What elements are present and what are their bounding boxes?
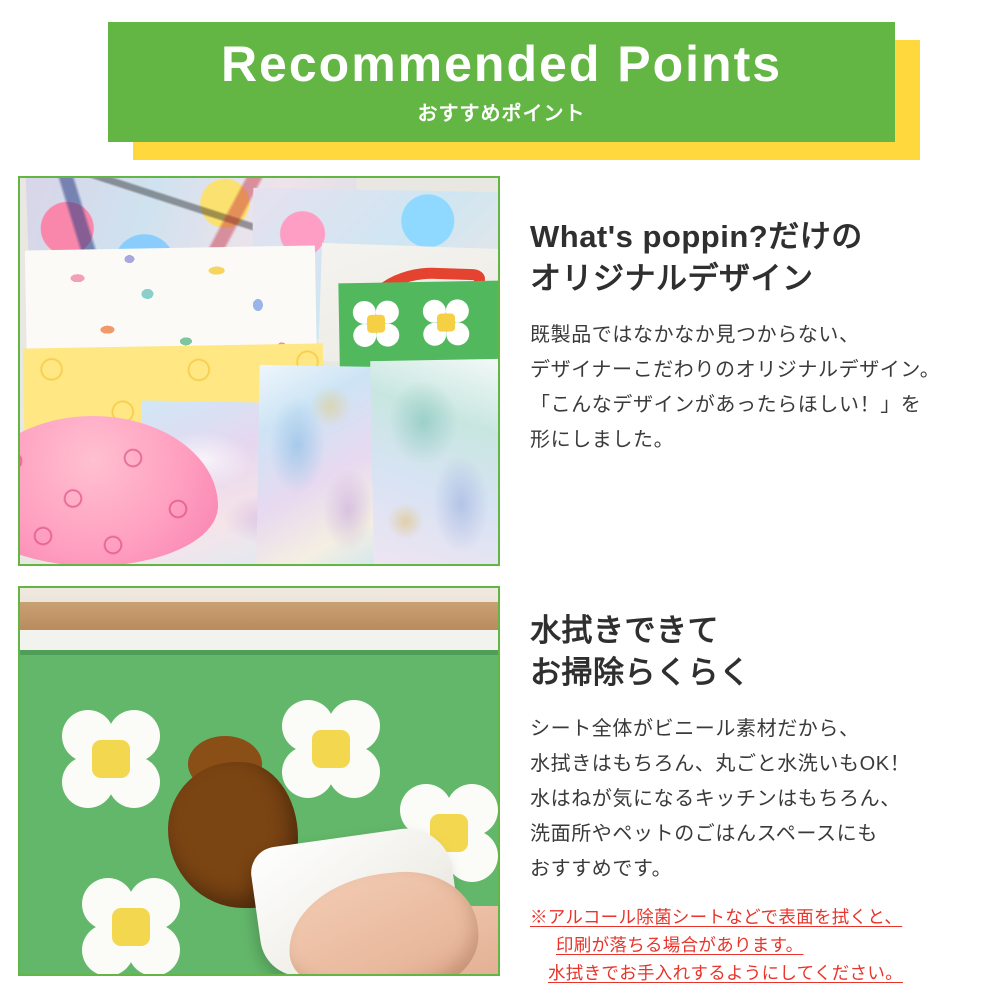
body-line: シート全体がビニール素材だから、 — [530, 712, 980, 747]
sheet-pink-circle — [18, 416, 218, 566]
note-line: 水拭きでお手入れするようにしてください。 — [530, 959, 980, 987]
body-line: 既製品ではなかなか見つからない、 — [530, 318, 980, 353]
body-line: デザイナーこだわりのオリジナルデザイン。 — [530, 353, 980, 388]
photo-mat-cleaning — [18, 586, 500, 976]
text-column-1: What's poppin?だけの オリジナルデザイン 既製品ではなかなか見つか… — [530, 176, 980, 566]
body-line: おすすめです。 — [530, 852, 980, 887]
heading-line: What's poppin?だけの — [530, 216, 980, 258]
section-2-heading: 水拭きできて お掃除らくらく — [530, 610, 980, 694]
heading-line: オリジナルデザイン — [530, 258, 980, 300]
section-2-body: シート全体がビニール素材だから、 水拭きはもちろん、丸ごと水洗いもOK！ 水はね… — [530, 712, 980, 887]
page-subtitle: おすすめポイント — [418, 97, 586, 126]
section-1-body: 既製品ではなかなか見つからない、 デザイナーこだわりのオリジナルデザイン。 「こ… — [530, 318, 980, 458]
section-original-design: What's poppin?だけの オリジナルデザイン 既製品ではなかなか見つか… — [18, 176, 980, 566]
body-line: 形にしました。 — [530, 423, 980, 458]
photo-design-collage — [18, 176, 500, 566]
sheet-marble-teal — [370, 359, 500, 566]
body-line: 「こんなデザインがあったらほしい！」を — [530, 388, 980, 423]
body-line: 水拭きはもちろん、丸ごと水洗いもOK！ — [530, 747, 980, 782]
recommended-points-page: Recommended Points おすすめポイント — [0, 0, 1000, 1000]
page-title: Recommended Points — [221, 38, 782, 91]
mat-white-border — [20, 630, 498, 650]
note-line: 印刷が落ちる場合があります。 — [530, 931, 980, 959]
heading-line: お掃除らくらく — [530, 652, 980, 694]
wood-floor-strip — [20, 602, 498, 630]
header-banner: Recommended Points おすすめポイント — [0, 0, 1000, 165]
mat-edge-line — [20, 650, 498, 655]
section-wipeable: 水拭きできて お掃除らくらく シート全体がビニール素材だから、 水拭きはもちろん… — [18, 586, 980, 988]
sheet-marble-blue — [256, 365, 389, 566]
body-line: 洗面所やペットのごはんスペースにも — [530, 817, 980, 852]
heading-line: 水拭きできて — [530, 610, 980, 652]
flower-motif — [423, 299, 470, 346]
header-green-band: Recommended Points おすすめポイント — [108, 22, 895, 142]
section-1-heading: What's poppin?だけの オリジナルデザイン — [530, 216, 980, 300]
flower-motif — [353, 300, 400, 347]
body-line: 水はねが気になるキッチンはもちろん、 — [530, 782, 980, 817]
note-line: ※アルコール除菌シートなどで表面を拭くと、 — [530, 903, 980, 931]
section-2-caution-note: ※アルコール除菌シートなどで表面を拭くと、 印刷が落ちる場合があります。 水拭き… — [530, 903, 980, 988]
text-column-2: 水拭きできて お掃除らくらく シート全体がビニール素材だから、 水拭きはもちろん… — [530, 586, 980, 988]
